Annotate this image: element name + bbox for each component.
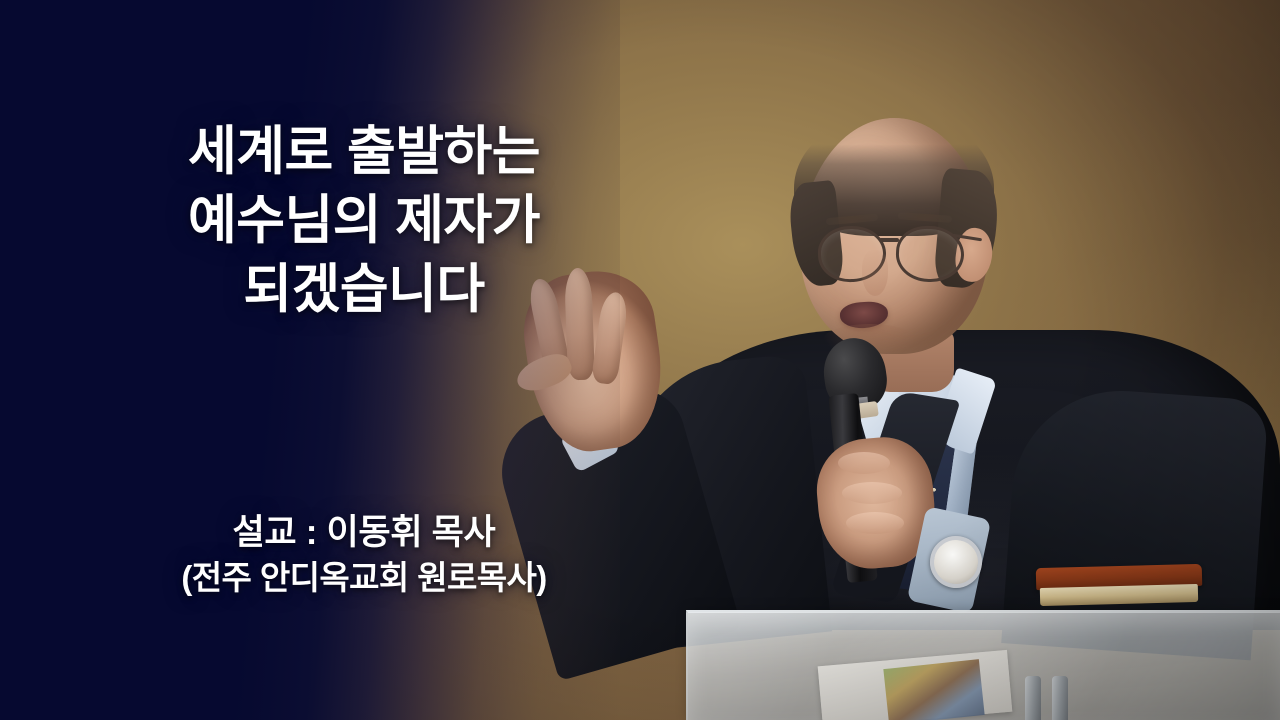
sermon-title-line-1: 세계로 출발하는 xyxy=(54,118,674,187)
sermon-title: 세계로 출발하는 예수님의 제자가 되겠습니다 xyxy=(54,118,674,325)
navy-gradient-overlay xyxy=(0,0,620,720)
sermon-title-line-2: 예수님의 제자가 xyxy=(54,187,674,256)
speaker-name: 설교 : 이동휘 목사 xyxy=(54,512,674,555)
speaker-credit: 설교 : 이동휘 목사 (전주 안디옥교회 원로목사) xyxy=(54,512,674,598)
sermon-title-line-3: 되겠습니다 xyxy=(54,256,674,325)
sermon-title-slide: 세계로 출발하는 예수님의 제자가 되겠습니다 설교 : 이동휘 목사 (전주 … xyxy=(0,0,1280,720)
speaker-affiliation: (전주 안디옥교회 원로목사) xyxy=(54,558,674,598)
